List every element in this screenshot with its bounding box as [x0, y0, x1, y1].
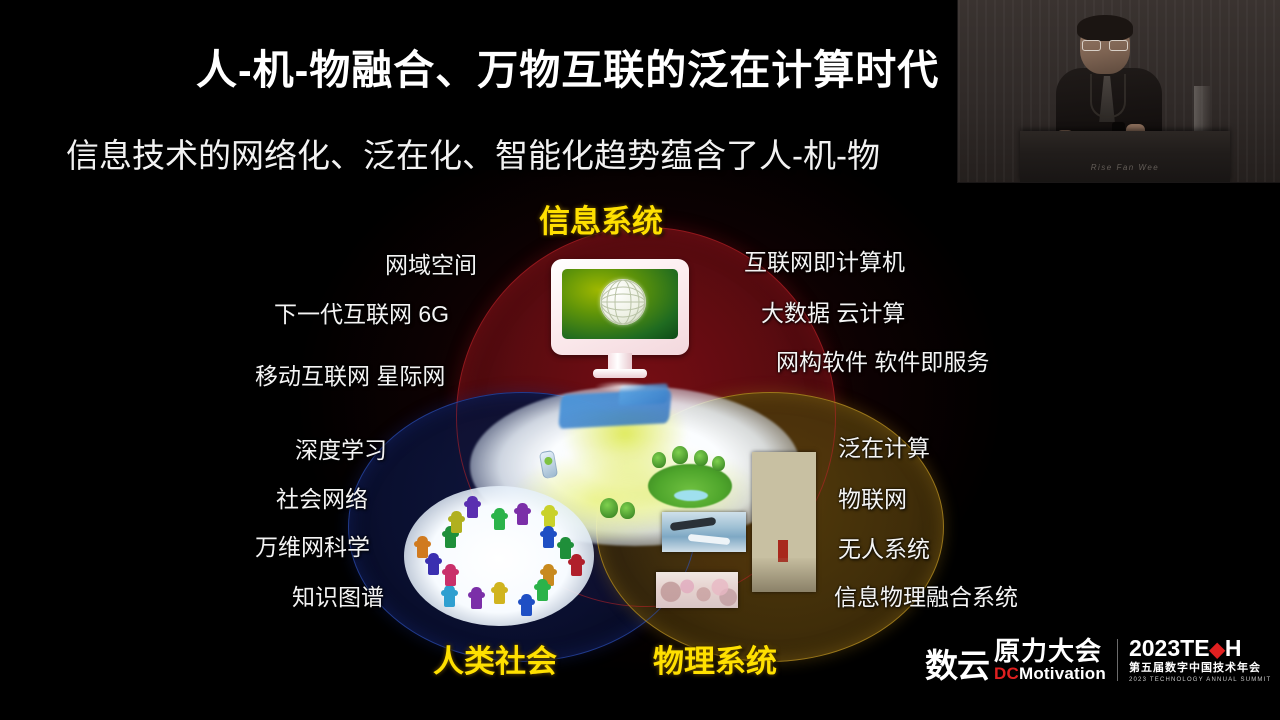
keyword-society-1: 社会网络 [276, 480, 368, 514]
keyword-physical-3: 信息物理融合系统 [834, 578, 1018, 612]
monitor-screen [562, 269, 678, 339]
person-figure [451, 511, 462, 533]
logo-text-stack: 原力大会 DCMotivation [994, 638, 1106, 682]
person-figure [444, 585, 455, 607]
person-figure [571, 554, 582, 576]
tree-icon [600, 498, 618, 518]
logo-dcmotivation: DCMotivation [994, 665, 1106, 682]
keyword-physical-0: 泛在计算 [838, 429, 930, 463]
computer-monitor-illustration [551, 259, 689, 387]
logo-year-tech: 2023TE◆H [1129, 637, 1271, 660]
logo-tech-text: TE [1180, 637, 1209, 660]
city-blocks-illustration [558, 389, 672, 429]
tree-icon [620, 502, 635, 519]
keyword-info_left-2: 移动互联网 星际网 [255, 357, 445, 391]
tree-icon [694, 450, 708, 466]
person-figure [517, 503, 528, 525]
monitor-stand-base [593, 369, 647, 378]
person-figure [445, 564, 456, 586]
podium-label: Rise Fan Wee [1020, 163, 1230, 172]
person-figure [417, 536, 428, 558]
spark-icon: ◆ [1210, 640, 1225, 660]
presentation-video-frame: 人-机-物融合、万物互联的泛在计算时代 信息技术的网络化、泛在化、智能化趋势蕴含… [0, 0, 1280, 720]
logo-summit-en: 2023 TECHNOLOGY ANNUAL SUMMIT [1129, 677, 1271, 683]
keyword-society-0: 深度学习 [295, 431, 387, 465]
monitor-reflection [595, 381, 647, 392]
logo-yuanli-text: 原力大会 [994, 638, 1106, 664]
logo-summit-badge: 2023TE◆H 第五届数字中国技术年会 2023 TECHNOLOGY ANN… [1129, 637, 1271, 683]
logo-primary: 数云 原力大会 DCMotivation [925, 638, 1106, 682]
keyword-info_right-0: 互联网即计算机 [744, 243, 905, 277]
person-figure [494, 582, 505, 604]
person-figure [428, 553, 439, 575]
monitor-bezel [551, 259, 689, 355]
logo-shuyun-text: 数云 [925, 649, 989, 682]
speaker-hair [1077, 15, 1133, 41]
keyword-society-2: 万维网科学 [255, 528, 370, 562]
keyword-info_left-0: 网域空间 [385, 246, 477, 280]
venn-label-human-society: 人类社会 [433, 636, 557, 681]
person-figure [471, 587, 482, 609]
venn-label-physical-system: 物理系统 [653, 636, 777, 681]
logo-divider [1117, 639, 1118, 681]
speaker-camera-overlay[interactable]: Rise Fan Wee [957, 0, 1280, 183]
person-figure [560, 537, 571, 559]
logo-year-text: 2023 [1129, 637, 1180, 660]
person-figure [467, 496, 478, 518]
globe-wireframe-icon [600, 279, 646, 325]
tree-icon [712, 456, 725, 471]
podium: Rise Fan Wee [1020, 131, 1230, 183]
photo-crowd [656, 572, 738, 608]
logo-tech-tail-text: H [1225, 637, 1242, 660]
logo-summit-cn: 第五届数字中国技术年会 [1129, 663, 1271, 674]
speaker-lanyard [1090, 74, 1126, 118]
tree-icon [652, 452, 666, 468]
keyword-society-3: 知识图谱 [292, 578, 384, 612]
keyword-physical-2: 无人系统 [838, 530, 930, 564]
keyword-info_left-1: 下一代互联网 6G [274, 295, 449, 329]
person-figure [537, 579, 548, 601]
person-figure [543, 526, 554, 548]
photo-aircraft [662, 512, 746, 552]
logo-motivation-text: Motivation [1019, 664, 1106, 683]
person-figure [494, 508, 505, 530]
logo-dc-text: DC [994, 664, 1019, 683]
photo-skyscraper-accent [778, 540, 788, 562]
venn-label-information-system: 信息系统 [539, 196, 663, 241]
speaker-figure [1050, 18, 1168, 144]
keyword-info_right-1: 大数据 云计算 [761, 294, 905, 328]
photo-skyscraper [752, 452, 816, 592]
person-figure [521, 594, 532, 616]
keyword-info_right-2: 网构软件 软件即服务 [776, 343, 989, 377]
tree-icon [672, 446, 688, 464]
glasses-icon [1082, 40, 1128, 49]
conference-logo: 数云 原力大会 DCMotivation 2023TE◆H 第五届数字中国技术年… [925, 637, 1271, 683]
keyword-physical-1: 物联网 [838, 480, 907, 514]
person-figure [544, 505, 555, 527]
